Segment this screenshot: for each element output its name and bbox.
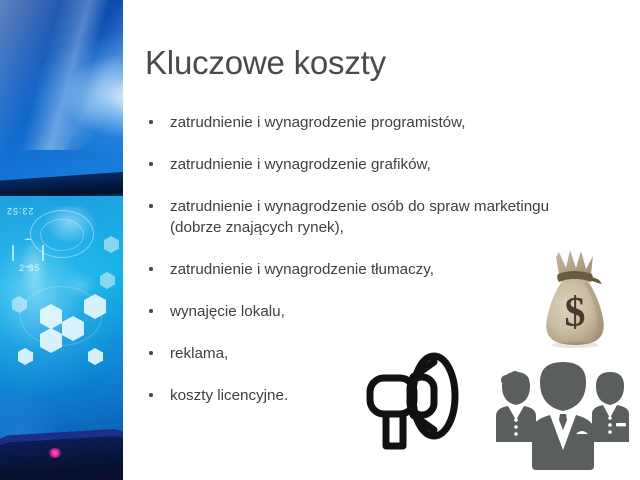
list-item-label: zatrudnienie i wynagrodzenie osób do spr… [170, 198, 549, 236]
bullet-dot-icon [149, 267, 153, 271]
megaphone-handle [386, 414, 403, 446]
hexagon-shape [104, 240, 119, 249]
list-item-label: zatrudnienie i wynagrodzenie grafików, [170, 156, 431, 173]
hexagon-shape [40, 310, 62, 323]
list-item: zatrudnienie i wynagrodzenie osób do spr… [146, 196, 566, 238]
list-item-label: zatrudnienie i wynagrodzenie programistó… [170, 114, 465, 131]
person-left [496, 371, 536, 442]
slide-title: Kluczowe koszty [145, 44, 386, 82]
hexagon-shape [18, 352, 33, 361]
bullet-dot-icon [149, 393, 153, 397]
hexagon-shape [40, 334, 62, 347]
hud-value-label: 2 35 [19, 263, 41, 273]
money-bag-icon: $ [535, 246, 615, 348]
hud-time-label: 23:52 [6, 206, 34, 216]
list-item-label: zatrudnienie i wynagrodzenie tłumaczy, [170, 261, 434, 278]
bullet-dot-icon [149, 309, 153, 313]
bag-tie-tail [591, 277, 602, 284]
list-item: zatrudnienie i wynagrodzenie grafików, [146, 154, 566, 175]
bag-shadow [551, 342, 599, 348]
list-item-label: reklama, [170, 345, 228, 362]
team-people-icon [488, 358, 638, 478]
bullet-dot-icon [149, 204, 153, 208]
magenta-led-indicator [48, 448, 62, 458]
list-item-label: wynajęcie lokalu, [170, 303, 285, 320]
list-item: wynajęcie lokalu, [146, 301, 566, 322]
hexagon-shape [84, 300, 106, 313]
hexagon-shape [100, 276, 115, 285]
hexagon-shape [62, 322, 84, 335]
light-ray-overlay [0, 0, 123, 150]
presentation-slide: 23:52 2 35 Kluczowe koszty zatrudnienie … [0, 0, 640, 480]
bullet-dot-icon [149, 162, 153, 166]
list-item: zatrudnienie i wynagrodzenie tłumaczy, [146, 259, 566, 280]
hexagon-shape [12, 300, 27, 309]
hexagon-shape [88, 352, 103, 361]
bullet-dot-icon [149, 351, 153, 355]
bullet-dot-icon [149, 120, 153, 124]
hud-ring-inner [40, 219, 84, 251]
side-decorative-image: 23:52 2 35 [0, 0, 123, 480]
list-item: zatrudnienie i wynagrodzenie programistó… [146, 112, 566, 133]
megaphone-icon [362, 346, 462, 454]
list-item-label: koszty licencyjne. [170, 387, 288, 404]
dollar-sign-label: $ [565, 290, 586, 336]
bag-ruffle [556, 250, 593, 274]
